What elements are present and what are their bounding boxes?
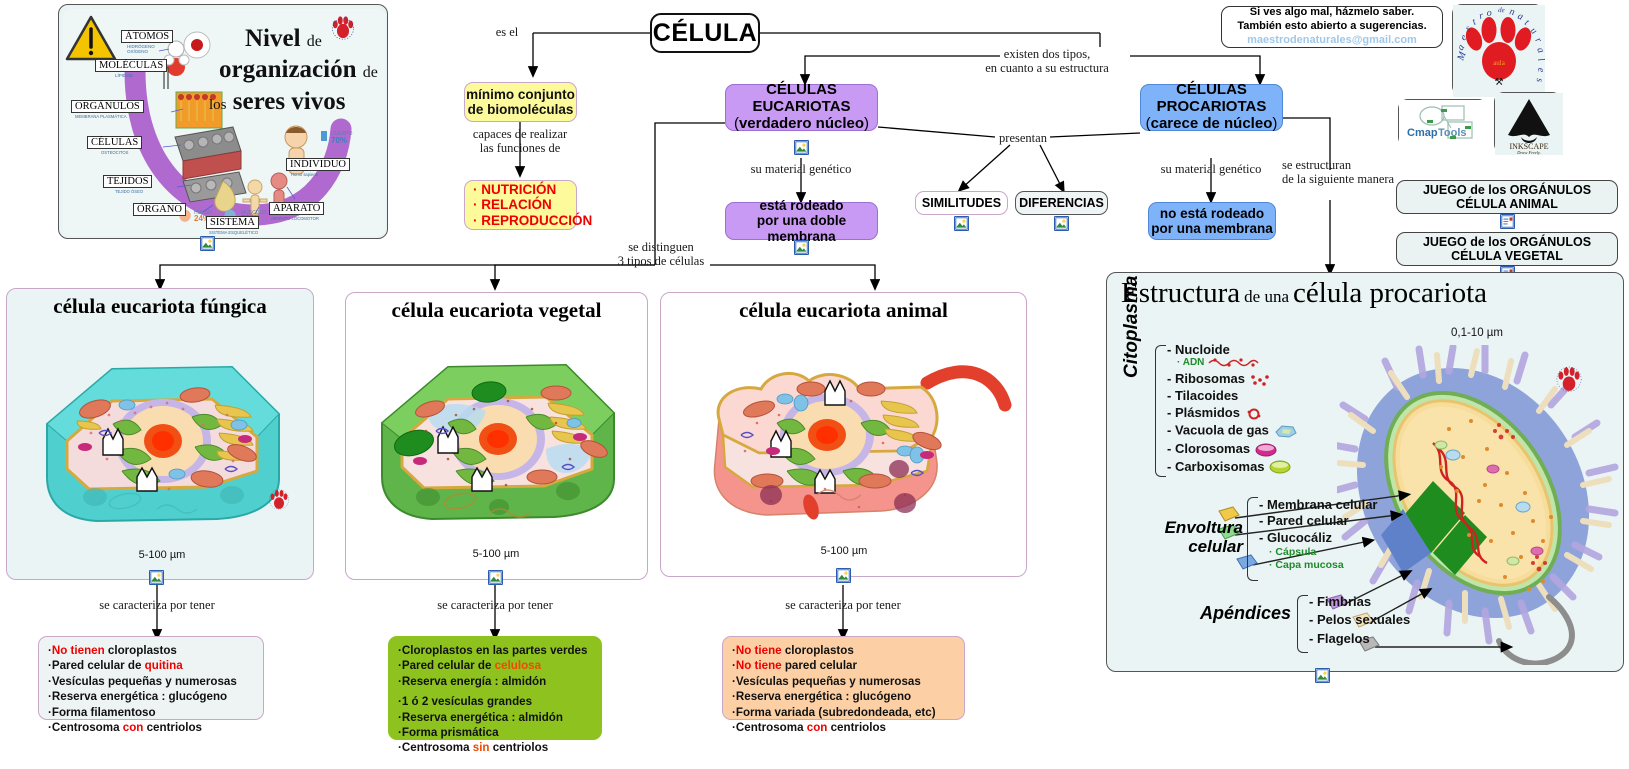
proca-item: - Pelos sexuales: [1309, 611, 1410, 629]
adn-icon: [1207, 357, 1261, 368]
proca-subitem: · Capa mucosa: [1259, 559, 1378, 572]
note-line1: Si ves algo mal, házmelo saber.: [1250, 6, 1414, 20]
fungica-cell-illustration: [17, 329, 305, 539]
node-minimo-label: mínimo conjunto de biomoléculas: [466, 87, 575, 117]
char-item: ·No tiene cloroplastos: [732, 643, 955, 658]
nivel-organizacion-illustration: HUESO 24% MÚSCULO 75% CUERPO 70%: [63, 9, 385, 236]
proca-item: - Carboxisomas: [1167, 460, 1299, 475]
resource-icon-nivel[interactable]: [200, 236, 215, 251]
char-item: ·Vesículas pequeñas y numerosas: [732, 674, 955, 689]
node-celulas-eucariotas[interactable]: CÉLULAS EUCARIOTAS (verdadero núcleo): [725, 84, 878, 131]
juego-animal-label: JUEGO de los ORGÁNULOS CÉLULA ANIMAL: [1423, 183, 1591, 211]
nivel-label-atomos: ÁTOMOS: [121, 30, 173, 43]
inkscape-icon: INKSCAPE Draw Freely.: [1495, 93, 1563, 155]
nivel-label-sistema: SISTEMA: [206, 216, 259, 229]
char-item: ·No tiene pared celular: [732, 658, 955, 673]
funcion-relacion: · RELACIÓN: [473, 197, 552, 212]
animal-scale-label: 5-100 µm: [789, 545, 899, 557]
char-item: ·1 ó 2 vesículas grandes: [398, 694, 592, 709]
node-juego-organulos-vegetal[interactable]: JUEGO de los ORGÁNULOS CÉLULA VEGETAL: [1396, 232, 1618, 266]
char-item: ·Centrosoma con centriolos: [732, 720, 955, 735]
eucariotas-line1: CÉLULAS: [766, 82, 837, 99]
edge-label-se-caracteriza-vegetal: se caracteriza por tener: [430, 598, 560, 612]
nivel-label-organo: ÓRGANO: [133, 203, 186, 216]
edge-label-existen-dos-tipos: existen dos tipos, en cuanto a su estruc…: [962, 47, 1132, 76]
procariotas-line1: CÉLULAS: [1176, 82, 1247, 99]
edge-label-se-caracteriza-animal: se caracteriza por tener: [778, 598, 908, 612]
char-item: ·Forma variada (subredondeada, etc): [732, 705, 955, 720]
proca-subitem: · ADN: [1167, 357, 1299, 369]
fungica-scale-label: 5-100 µm: [107, 549, 217, 561]
proca-item: - Pared celular: [1259, 513, 1378, 529]
animal-cell-illustration: [675, 331, 1015, 536]
proca-item: - Membrana celular: [1259, 497, 1378, 513]
nivel-label-celulas: CÉLULAS: [87, 136, 142, 149]
node-funciones-vitales[interactable]: · NUTRICIÓN · RELACIÓN · REPRODUCCIÓN: [464, 180, 577, 230]
clorosomas-icon: [1254, 443, 1278, 457]
node-celula-label: CÉLULA: [653, 19, 757, 47]
svg-text:de: de: [1498, 6, 1505, 14]
svg-text:⚒: ⚒: [1495, 77, 1504, 88]
edge-label-material-genetico-euca: su material genético: [741, 162, 861, 176]
chars-animal[interactable]: ·No tiene cloroplastos ·No tiene pared c…: [722, 636, 965, 720]
ribosomas-icon: [1249, 374, 1271, 386]
panel-animal-title: célula eucariota animal: [661, 293, 1026, 323]
vegetal-cell-illustration: [356, 331, 639, 539]
svg-text:Cmap: Cmap: [1407, 127, 1438, 139]
procariotas-line3: (carece de núcleo): [1146, 116, 1278, 133]
brace-envoltura: [1247, 497, 1258, 581]
edge-label-material-genetico-proca: su material genético: [1151, 162, 1271, 176]
resource-icon-vegetal[interactable]: [488, 570, 503, 585]
node-juego-organulos-animal[interactable]: JUEGO de los ORGÁNULOS CÉLULA ANIMAL: [1396, 180, 1618, 214]
nivel-sub-individuo: Homo sapiens: [291, 172, 318, 177]
funcion-nutricion: · NUTRICIÓN: [473, 182, 556, 197]
node-feedback-note[interactable]: Si ves algo mal, házmelo saber. También …: [1221, 6, 1443, 48]
char-item: ·Cloroplastos en las partes verdes: [398, 643, 592, 658]
group-label-envoltura: Envoltura celular: [1133, 501, 1243, 556]
nivel-label-tejidos: TEJIDOS: [103, 175, 152, 188]
panel-estructura-procariota[interactable]: Estructura de una célula procariota 0,1-…: [1106, 272, 1624, 672]
resource-icon-doble-membrana[interactable]: [794, 240, 809, 255]
nivel-label-organulos: ORGÁNULOS: [71, 100, 144, 113]
char-item: ·Pared celular de celulosa: [398, 658, 592, 673]
proca-item: - Tilacoides: [1167, 389, 1299, 403]
note-line2: También esto abierto a sugerencias.: [1237, 20, 1426, 34]
node-celulas-procariotas[interactable]: CÉLULAS PROCARIOTAS (carece de núcleo): [1140, 84, 1283, 131]
proca-item: - Plásmidos: [1167, 406, 1299, 420]
resource-icon-animal[interactable]: [836, 568, 851, 583]
resource-icon-diferencias[interactable]: [1054, 216, 1069, 231]
resource-icon-eucariotas[interactable]: [794, 140, 809, 155]
funcion-reproduccion: · REPRODUCCIÓN: [473, 213, 592, 228]
node-minimo-biomoleculas[interactable]: mínimo conjunto de biomoléculas: [464, 82, 577, 122]
group-label-apendices: Apéndices: [1151, 603, 1291, 624]
char-item: ·Centrosoma con centriolos: [48, 720, 254, 735]
nivel-title-line3: los seres vivos: [209, 88, 346, 116]
envoltura-items: - Membrana celular - Pared celular - Glu…: [1259, 497, 1378, 572]
resource-icon-fungica[interactable]: [149, 570, 164, 585]
chars-fungica[interactable]: ·No tienen cloroplastos ·Pared celular d…: [38, 636, 264, 720]
panel-celula-animal[interactable]: célula eucariota animal: [660, 292, 1027, 577]
char-item: ·Vesículas pequeñas y numerosas: [48, 674, 254, 689]
node-similitudes[interactable]: SIMILITUDES: [915, 191, 1008, 215]
nivel-sub-moleculas: LÍPIDOS: [115, 73, 133, 78]
nivel-sub-atomos: HIDRÓGENO OXÍGENO: [127, 44, 155, 54]
node-diferencias[interactable]: DIFERENCIAS: [1015, 191, 1108, 215]
procariota-scale-label: 0,1-10 µm: [1427, 327, 1527, 339]
edge-label-presentan: presentan: [995, 131, 1051, 145]
edge-label-se-caracteriza-fungica: se caracteriza por tener: [92, 598, 222, 612]
diferencias-label: DIFERENCIAS: [1019, 196, 1104, 210]
char-item: ·Pared celular de quitina: [48, 658, 254, 673]
svg-text:aula: aula: [1493, 59, 1506, 67]
char-item: ·Forma prismática: [398, 725, 592, 740]
proca-item: - Glucocáliz: [1259, 530, 1378, 546]
group-label-citoplasma: Citoplasma: [1121, 344, 1143, 378]
brace-citoplasma: [1155, 345, 1166, 477]
proca-title-2: célula procariota: [1293, 277, 1487, 309]
proca-item: - Flagelos: [1309, 630, 1410, 648]
citoplasma-items: - Nucloide · ADN - Ribosomas - Tilacoide…: [1167, 343, 1299, 474]
nivel-sub-sistema: SISTEMA ESQUELÉTICO: [209, 230, 258, 235]
nivel-title-line2: organización de: [219, 56, 378, 84]
resource-icon-similitudes[interactable]: [954, 216, 969, 231]
vacuola-gas-icon: [1273, 423, 1299, 439]
proca-item: - Ribosomas: [1167, 372, 1299, 386]
doble-membrana-label: está rodeado por una doble membrana: [726, 198, 877, 243]
nivel-label-individuo: INDIVIDUO: [286, 158, 350, 171]
nivel-sub-celulas: OSTEOCITOS: [101, 150, 128, 155]
nivel-sub-organulos: MEMBRANA PLASMÁTICA: [75, 114, 127, 119]
svg-text:Tools: Tools: [1438, 127, 1467, 139]
edge-label-capaces-realizar: capaces de realizar las funciones de: [455, 127, 585, 156]
char-item: ·Reserva energética : glucógeno: [732, 689, 955, 704]
eucariotas-line2: EUCARIOTAS: [752, 99, 850, 116]
note-email: maestrodenaturales@gmail.com: [1247, 34, 1417, 48]
panel-celula-vegetal[interactable]: célula eucariota vegetal: [345, 292, 648, 580]
procariota-panel-title: Estructura de una célula procariota: [1121, 277, 1487, 310]
svg-text:Draw Freely.: Draw Freely.: [1516, 150, 1541, 155]
char-item: ·No tienen cloroplastos: [48, 643, 254, 658]
proca-item: - Vacuola de gas: [1167, 423, 1299, 439]
proca-item: - Clorosomas: [1167, 442, 1299, 457]
chars-vegetal[interactable]: ·Cloroplastos en las partes verdes ·Pare…: [388, 636, 602, 740]
panel-celula-fungica[interactable]: célula eucariota fúngica: [6, 288, 314, 580]
no-membrana-label: no está rodeado por una membrana: [1151, 206, 1273, 236]
eucariotas-line3: (verdadero núcleo): [734, 116, 869, 133]
concept-map-canvas: HUESO 24% MÚSCULO 75% CUERPO 70%: [0, 0, 1629, 769]
procariotas-line2: PROCARIOTAS: [1157, 99, 1267, 116]
proca-title-mid: de una: [1244, 287, 1289, 306]
nivel-label-moleculas: MOLÉCULAS: [95, 59, 167, 72]
edge-label-se-estructuran: se estructuran de la siguiente manera: [1282, 158, 1414, 187]
juego-vegetal-label: JUEGO de los ORGÁNULOS CÉLULA VEGETAL: [1423, 235, 1591, 263]
proca-item: - Nucloide: [1167, 343, 1299, 357]
edge-label-se-distinguen: se distinguen 3 tipos de células: [611, 240, 711, 269]
similitudes-label: SIMILITUDES: [922, 196, 1001, 210]
svg-text:70%: 70%: [331, 136, 347, 145]
char-item: ·Reserva energética : almidón: [398, 710, 592, 725]
resource-icon-procariota-panel[interactable]: [1315, 668, 1330, 683]
badge-logo-maestro-naturales[interactable]: aula ⚒ M a e s t r o de n a t u r a l e …: [1452, 4, 1544, 96]
node-celula-root[interactable]: CÉLULA: [650, 13, 760, 53]
vegetal-scale-label: 5-100 µm: [441, 548, 551, 560]
cmaptools-icon: Cmap Tools: [1399, 100, 1489, 148]
panel-fungica-title: célula eucariota fúngica: [7, 289, 313, 319]
char-item: ·Forma filamentoso: [48, 705, 254, 720]
panel-vegetal-title: célula eucariota vegetal: [346, 293, 647, 323]
edge-label-es-el: es el: [486, 25, 528, 39]
badge-cmaptools[interactable]: Cmap Tools: [1398, 99, 1488, 147]
nivel-label-aparato: APARATO: [269, 202, 324, 215]
badge-inkscape[interactable]: INKSCAPE Draw Freely.: [1494, 92, 1562, 154]
node-no-membrana[interactable]: no está rodeado por una membrana: [1148, 202, 1276, 240]
apendices-items: - Fimbrias - Pelos sexuales - Flagelos: [1309, 593, 1410, 648]
nivel-title-line1: Nivel de: [245, 25, 322, 53]
char-item: ·Reserva energía : almidón: [398, 674, 592, 689]
brace-apendices: [1297, 595, 1308, 653]
nivel-sub-aparato: APARATO LOCOMOTOR: [271, 216, 319, 221]
resource-icon-juego-animal[interactable]: [1500, 214, 1515, 229]
panel-nivel-organizacion[interactable]: HUESO 24% MÚSCULO 75% CUERPO 70%: [58, 4, 388, 239]
node-doble-membrana[interactable]: está rodeado por una doble membrana: [725, 202, 878, 240]
char-item: ·Centrosoma sin centriolos: [398, 740, 592, 755]
char-item: ·Reserva energética : glucógeno: [48, 689, 254, 704]
paw-logo-icon: aula ⚒ M a e s t r o de n a t u r a l e …: [1453, 5, 1545, 97]
proca-item: - Fimbrias: [1309, 593, 1410, 611]
plasmidos-icon: [1244, 408, 1264, 420]
carboxisomas-icon: [1268, 460, 1292, 474]
proca-subitem: · Cápsula: [1259, 546, 1378, 559]
nivel-sub-tejidos: TEJIDO ÓSEO: [115, 189, 143, 194]
